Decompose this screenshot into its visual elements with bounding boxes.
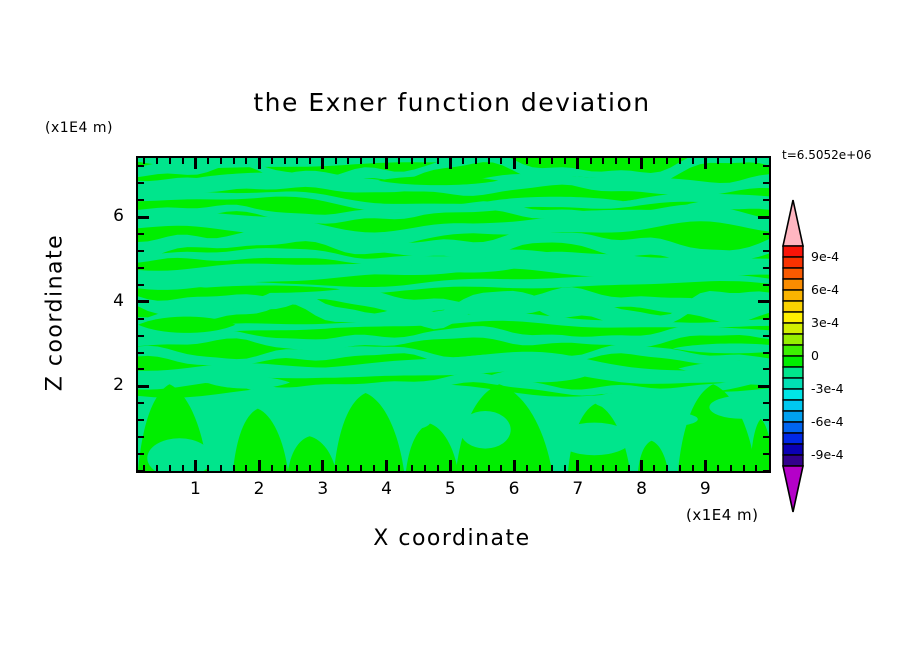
tick-mark bbox=[653, 158, 655, 164]
tick-mark bbox=[500, 465, 502, 471]
colorbar bbox=[781, 198, 805, 514]
tick-mark bbox=[666, 465, 668, 471]
colorbar-cap-top bbox=[783, 200, 803, 246]
tick-mark bbox=[398, 465, 400, 471]
tick-mark bbox=[539, 158, 541, 164]
y-tick-label: 2 bbox=[94, 375, 124, 395]
tick-mark bbox=[462, 158, 464, 164]
tick-mark bbox=[138, 165, 144, 167]
tick-mark bbox=[763, 199, 769, 201]
tick-mark bbox=[138, 436, 144, 438]
tick-mark bbox=[526, 465, 528, 471]
tick-mark bbox=[258, 460, 261, 471]
x-tick-label: 8 bbox=[627, 479, 657, 499]
colorbar-band bbox=[783, 246, 803, 257]
x-tick-label: 5 bbox=[435, 479, 465, 499]
colorbar-band bbox=[783, 301, 803, 312]
tick-mark bbox=[763, 318, 769, 320]
tick-mark bbox=[138, 182, 144, 184]
colorbar-band bbox=[783, 356, 803, 367]
tick-mark bbox=[169, 158, 171, 164]
colorbar-band bbox=[783, 389, 803, 400]
colorbar-swatches bbox=[781, 198, 805, 514]
tick-mark bbox=[679, 158, 681, 164]
tick-mark bbox=[138, 335, 144, 337]
chart-title: the Exner function deviation bbox=[0, 88, 904, 117]
colorbar-band bbox=[783, 422, 803, 433]
tick-mark bbox=[156, 158, 158, 164]
tick-mark bbox=[551, 158, 553, 164]
tick-mark bbox=[590, 158, 592, 164]
tick-mark bbox=[138, 267, 144, 269]
tick-mark bbox=[730, 158, 732, 164]
tick-mark bbox=[628, 465, 630, 471]
tick-mark bbox=[138, 385, 149, 388]
tick-mark bbox=[449, 158, 452, 169]
tick-mark bbox=[385, 158, 388, 169]
tick-mark bbox=[551, 465, 553, 471]
tick-mark bbox=[335, 465, 337, 471]
contour-pocket bbox=[557, 423, 632, 456]
tick-mark bbox=[488, 158, 490, 164]
tick-mark bbox=[763, 470, 769, 472]
tick-mark bbox=[138, 318, 144, 320]
tick-mark bbox=[755, 158, 757, 164]
tick-mark bbox=[373, 158, 375, 164]
colorbar-band bbox=[783, 367, 803, 378]
tick-mark bbox=[207, 465, 209, 471]
tick-mark bbox=[763, 436, 769, 438]
tick-mark bbox=[763, 284, 769, 286]
tick-mark bbox=[640, 460, 643, 471]
tick-mark bbox=[763, 352, 769, 354]
tick-mark bbox=[220, 158, 222, 164]
tick-mark bbox=[347, 465, 349, 471]
tick-mark bbox=[347, 158, 349, 164]
tick-mark bbox=[539, 465, 541, 471]
tick-mark bbox=[763, 402, 769, 404]
tick-mark bbox=[411, 465, 413, 471]
tick-mark bbox=[763, 233, 769, 235]
tick-mark bbox=[763, 182, 769, 184]
tick-mark bbox=[763, 267, 769, 269]
colorbar-band bbox=[783, 323, 803, 334]
colorbar-tick-label: -3e-4 bbox=[811, 381, 844, 396]
tick-mark bbox=[462, 465, 464, 471]
colorbar-tick-label: -9e-4 bbox=[811, 447, 844, 462]
contour-pocket bbox=[638, 412, 697, 426]
colorbar-band bbox=[783, 444, 803, 455]
colorbar-band bbox=[783, 411, 803, 422]
colorbar-band bbox=[783, 312, 803, 323]
tick-mark bbox=[233, 465, 235, 471]
tick-mark bbox=[182, 465, 184, 471]
colorbar-tick-label: 3e-4 bbox=[811, 315, 839, 330]
tick-mark bbox=[169, 465, 171, 471]
tick-mark bbox=[245, 158, 247, 164]
tick-mark bbox=[576, 460, 579, 471]
tick-mark bbox=[743, 158, 745, 164]
contour-plot-area bbox=[136, 156, 771, 473]
tick-mark bbox=[602, 158, 604, 164]
x-tick-label: 2 bbox=[244, 479, 274, 499]
tick-mark bbox=[335, 158, 337, 164]
tick-mark bbox=[717, 158, 719, 164]
colorbar-cap-bottom bbox=[783, 466, 803, 512]
x-tick-label: 7 bbox=[563, 479, 593, 499]
tick-mark bbox=[309, 158, 311, 164]
tick-mark bbox=[500, 158, 502, 164]
tick-mark bbox=[220, 465, 222, 471]
tick-mark bbox=[284, 465, 286, 471]
tick-mark bbox=[233, 158, 235, 164]
tick-mark bbox=[758, 216, 769, 219]
tick-mark bbox=[564, 465, 566, 471]
tick-mark bbox=[143, 158, 145, 164]
colorbar-band bbox=[783, 433, 803, 444]
tick-mark bbox=[309, 465, 311, 471]
y-tick-label: 4 bbox=[94, 291, 124, 311]
tick-mark bbox=[138, 419, 144, 421]
colorbar-band bbox=[783, 378, 803, 389]
tick-mark bbox=[628, 158, 630, 164]
timestamp-annotation: t=6.5052e+06 bbox=[782, 148, 871, 162]
tick-mark bbox=[156, 465, 158, 471]
tick-mark bbox=[360, 158, 362, 164]
tick-mark bbox=[138, 216, 149, 219]
tick-mark bbox=[373, 465, 375, 471]
tick-mark bbox=[437, 158, 439, 164]
colorbar-band bbox=[783, 455, 803, 466]
tick-mark bbox=[513, 460, 516, 471]
tick-mark bbox=[138, 470, 144, 472]
contour-pocket bbox=[399, 410, 432, 429]
tick-mark bbox=[138, 250, 144, 252]
tick-mark bbox=[692, 158, 694, 164]
tick-mark bbox=[138, 352, 144, 354]
x-axis-unit-label: (x1E4 m) bbox=[686, 506, 759, 524]
tick-mark bbox=[704, 158, 707, 169]
tick-mark bbox=[271, 158, 273, 164]
colorbar-tick-label: 6e-4 bbox=[811, 282, 839, 297]
tick-mark bbox=[758, 385, 769, 388]
contour-pocket bbox=[594, 393, 640, 409]
tick-mark bbox=[475, 465, 477, 471]
tick-mark bbox=[704, 460, 707, 471]
tick-mark bbox=[763, 250, 769, 252]
tick-mark bbox=[513, 158, 516, 169]
tick-mark bbox=[653, 465, 655, 471]
tick-mark bbox=[321, 158, 324, 169]
contour-pocket bbox=[460, 411, 511, 449]
y-axis-unit-label: (x1E4 m) bbox=[45, 120, 113, 136]
colorbar-tick-label: -6e-4 bbox=[811, 414, 844, 429]
tick-mark bbox=[526, 158, 528, 164]
colorbar-band bbox=[783, 290, 803, 301]
colorbar-tick-label: 0 bbox=[811, 348, 819, 363]
tick-mark bbox=[576, 158, 579, 169]
colorbar-band bbox=[783, 268, 803, 279]
tick-mark bbox=[730, 465, 732, 471]
tick-mark bbox=[296, 465, 298, 471]
tick-mark bbox=[424, 158, 426, 164]
tick-mark bbox=[138, 453, 144, 455]
x-tick-label: 9 bbox=[690, 479, 720, 499]
colorbar-tick-label: 9e-4 bbox=[811, 249, 839, 264]
tick-mark bbox=[398, 158, 400, 164]
y-axis-title: Z coordinate bbox=[43, 213, 68, 413]
x-tick-label: 6 bbox=[499, 479, 529, 499]
tick-mark bbox=[194, 460, 197, 471]
tick-mark bbox=[138, 233, 144, 235]
tick-mark bbox=[245, 465, 247, 471]
contour-field bbox=[138, 158, 769, 471]
tick-mark bbox=[449, 460, 452, 471]
tick-mark bbox=[758, 300, 769, 303]
tick-mark bbox=[666, 158, 668, 164]
tick-mark bbox=[679, 465, 681, 471]
tick-mark bbox=[424, 465, 426, 471]
tick-mark bbox=[763, 453, 769, 455]
tick-mark bbox=[284, 158, 286, 164]
tick-mark bbox=[615, 158, 617, 164]
tick-mark bbox=[271, 465, 273, 471]
tick-mark bbox=[360, 465, 362, 471]
tick-mark bbox=[763, 419, 769, 421]
tick-mark bbox=[207, 158, 209, 164]
tick-mark bbox=[138, 199, 144, 201]
colorbar-band bbox=[783, 334, 803, 345]
tick-mark bbox=[615, 465, 617, 471]
tick-mark bbox=[717, 465, 719, 471]
tick-mark bbox=[258, 158, 261, 169]
x-tick-label: 4 bbox=[372, 479, 402, 499]
tick-mark bbox=[475, 158, 477, 164]
tick-mark bbox=[321, 460, 324, 471]
tick-mark bbox=[138, 300, 149, 303]
tick-mark bbox=[692, 465, 694, 471]
colorbar-band bbox=[783, 345, 803, 356]
y-tick-label: 6 bbox=[94, 206, 124, 226]
tick-mark bbox=[138, 284, 144, 286]
tick-mark bbox=[755, 465, 757, 471]
tick-mark bbox=[182, 158, 184, 164]
tick-mark bbox=[590, 465, 592, 471]
tick-mark bbox=[194, 158, 197, 169]
tick-mark bbox=[296, 158, 298, 164]
tick-mark bbox=[411, 158, 413, 164]
tick-mark bbox=[138, 368, 144, 370]
colorbar-band bbox=[783, 257, 803, 268]
tick-mark bbox=[138, 402, 144, 404]
colorbar-band bbox=[783, 400, 803, 411]
colorbar-band bbox=[783, 279, 803, 290]
tick-mark bbox=[763, 165, 769, 167]
tick-mark bbox=[640, 158, 643, 169]
tick-mark bbox=[763, 368, 769, 370]
tick-mark bbox=[763, 335, 769, 337]
tick-mark bbox=[564, 158, 566, 164]
tick-mark bbox=[385, 460, 388, 471]
tick-mark bbox=[602, 465, 604, 471]
tick-mark bbox=[437, 465, 439, 471]
tick-mark bbox=[743, 465, 745, 471]
tick-mark bbox=[488, 465, 490, 471]
x-tick-label: 3 bbox=[308, 479, 338, 499]
x-tick-label: 1 bbox=[180, 479, 210, 499]
x-axis-title: X coordinate bbox=[0, 526, 904, 551]
